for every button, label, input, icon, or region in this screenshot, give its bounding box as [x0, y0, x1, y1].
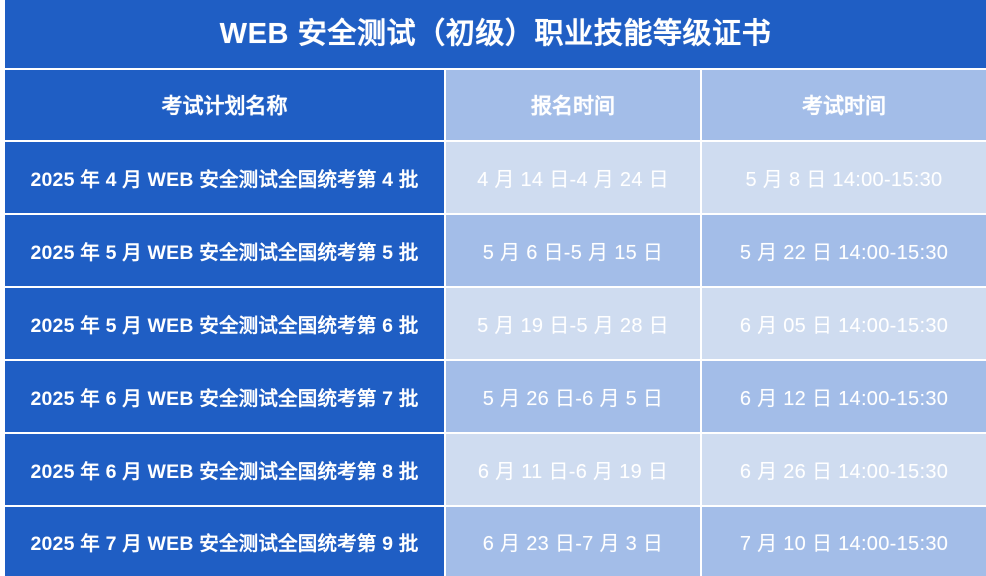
registration-time-text: 6 月 11 日-6 月 19 日: [478, 455, 668, 484]
certificate-exam-schedule-page: WEB 安全测试（初级）职业技能等级证书 考试计划名称 报名时间 考试时间 20…: [0, 0, 986, 560]
column-header-exam-time: 考试时间: [702, 70, 986, 140]
cell-exam-time: 7 月 10 日 14:00-15:30: [702, 507, 986, 576]
column-header-registration-time: 报名时间: [446, 70, 700, 140]
table-row: 2025 年 7 月 WEB 安全测试全国统考第 9 批 6 月 23 日-7 …: [5, 507, 986, 576]
cell-plan-name: 2025 年 5 月 WEB 安全测试全国统考第 6 批: [5, 288, 444, 359]
cell-registration-time: 6 月 11 日-6 月 19 日: [446, 434, 700, 505]
column-header-plan-name: 考试计划名称: [5, 70, 444, 140]
exam-schedule-table: 考试计划名称 报名时间 考试时间 2025 年 4 月 WEB 安全测试全国统考…: [5, 70, 986, 560]
cell-plan-name: 2025 年 5 月 WEB 安全测试全国统考第 5 批: [5, 215, 444, 286]
cell-plan-name: 2025 年 4 月 WEB 安全测试全国统考第 4 批: [5, 142, 444, 213]
plan-name-text: 2025 年 5 月 WEB 安全测试全国统考第 5 批: [30, 236, 418, 265]
cell-registration-time: 5 月 6 日-5 月 15 日: [446, 215, 700, 286]
plan-name-text: 2025 年 6 月 WEB 安全测试全国统考第 8 批: [30, 455, 418, 484]
cell-registration-time: 6 月 23 日-7 月 3 日: [446, 507, 700, 576]
plan-name-text: 2025 年 4 月 WEB 安全测试全国统考第 4 批: [30, 163, 418, 192]
cell-exam-time: 5 月 8 日 14:00-15:30: [702, 142, 986, 213]
column-header-exam-time-label: 考试时间: [802, 90, 886, 120]
table-row: 2025 年 4 月 WEB 安全测试全国统考第 4 批 4 月 14 日-4 …: [5, 142, 986, 213]
exam-time-text: 6 月 05 日 14:00-15:30: [740, 309, 948, 338]
plan-name-text: 2025 年 6 月 WEB 安全测试全国统考第 7 批: [30, 382, 418, 411]
column-header-registration-time-label: 报名时间: [531, 90, 615, 120]
page-title-banner: WEB 安全测试（初级）职业技能等级证书: [5, 0, 986, 68]
cell-exam-time: 5 月 22 日 14:00-15:30: [702, 215, 986, 286]
registration-time-text: 5 月 19 日-5 月 28 日: [477, 309, 669, 338]
cell-exam-time: 6 月 12 日 14:00-15:30: [702, 361, 986, 432]
registration-time-text: 5 月 26 日-6 月 5 日: [483, 382, 663, 411]
registration-time-text: 4 月 14 日-4 月 24 日: [477, 163, 669, 192]
table-row: 2025 年 5 月 WEB 安全测试全国统考第 6 批 5 月 19 日-5 …: [5, 288, 986, 359]
cell-plan-name: 2025 年 7 月 WEB 安全测试全国统考第 9 批: [5, 507, 444, 576]
registration-time-text: 5 月 6 日-5 月 15 日: [483, 236, 663, 265]
exam-time-text: 6 月 12 日 14:00-15:30: [740, 382, 948, 411]
exam-time-text: 5 月 22 日 14:00-15:30: [740, 236, 948, 265]
table-header-row: 考试计划名称 报名时间 考试时间: [5, 70, 986, 140]
plan-name-text: 2025 年 7 月 WEB 安全测试全国统考第 9 批: [30, 527, 418, 556]
cell-plan-name: 2025 年 6 月 WEB 安全测试全国统考第 8 批: [5, 434, 444, 505]
cell-registration-time: 4 月 14 日-4 月 24 日: [446, 142, 700, 213]
cell-exam-time: 6 月 05 日 14:00-15:30: [702, 288, 986, 359]
cell-exam-time: 6 月 26 日 14:00-15:30: [702, 434, 986, 505]
cell-plan-name: 2025 年 6 月 WEB 安全测试全国统考第 7 批: [5, 361, 444, 432]
table-row: 2025 年 6 月 WEB 安全测试全国统考第 8 批 6 月 11 日-6 …: [5, 434, 986, 505]
page-title: WEB 安全测试（初级）职业技能等级证书: [220, 20, 772, 49]
column-header-plan-name-label: 考试计划名称: [162, 90, 288, 120]
cell-registration-time: 5 月 19 日-5 月 28 日: [446, 288, 700, 359]
table-row: 2025 年 6 月 WEB 安全测试全国统考第 7 批 5 月 26 日-6 …: [5, 361, 986, 432]
table-row: 2025 年 5 月 WEB 安全测试全国统考第 5 批 5 月 6 日-5 月…: [5, 215, 986, 286]
registration-time-text: 6 月 23 日-7 月 3 日: [483, 527, 663, 556]
exam-time-text: 5 月 8 日 14:00-15:30: [746, 163, 943, 192]
exam-time-text: 6 月 26 日 14:00-15:30: [740, 455, 948, 484]
cell-registration-time: 5 月 26 日-6 月 5 日: [446, 361, 700, 432]
plan-name-text: 2025 年 5 月 WEB 安全测试全国统考第 6 批: [30, 309, 418, 338]
exam-time-text: 7 月 10 日 14:00-15:30: [740, 527, 948, 556]
